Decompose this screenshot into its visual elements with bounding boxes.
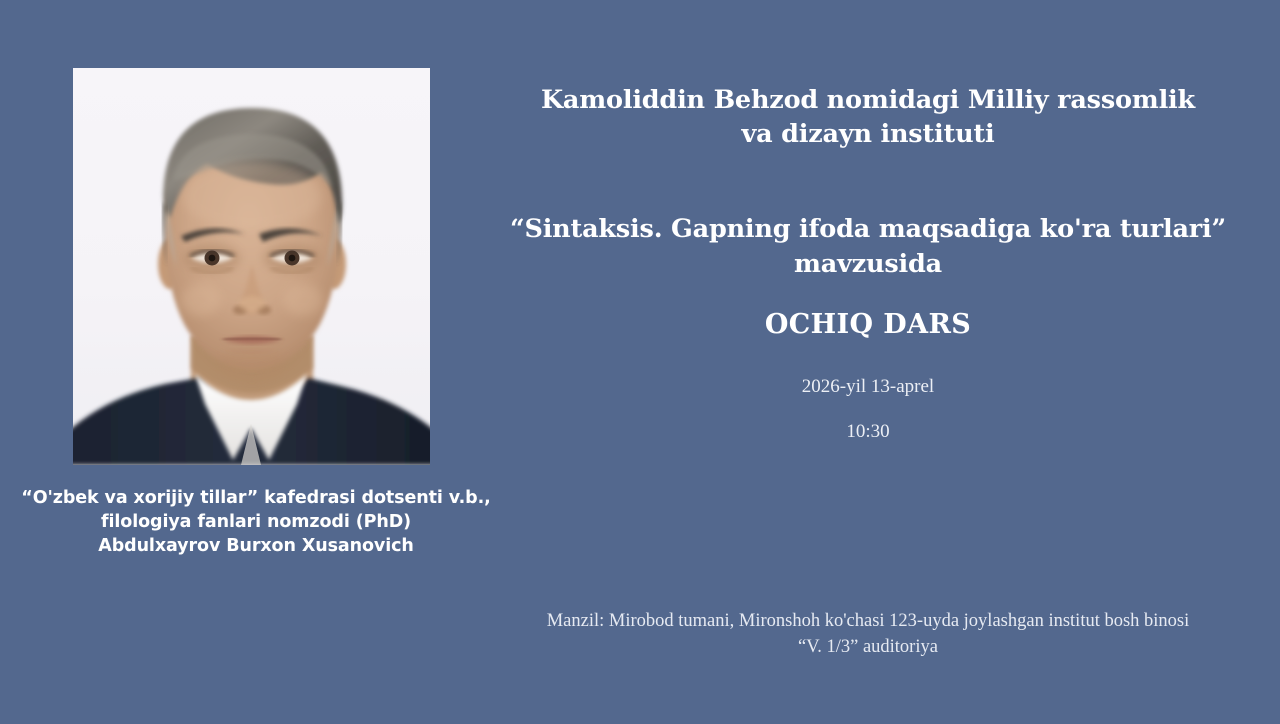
event-type-label: OCHIQ DARS: [468, 308, 1268, 342]
venue-address-line-2: “V. 1/3” auditoriya: [458, 634, 1278, 660]
institute-name: Kamoliddin Behzod nomidagi Milliy rassom…: [468, 83, 1268, 151]
portrait-illustration: [73, 68, 430, 465]
venue-address: Manzil: Mirobod tumani, Mironshoh ko'cha…: [458, 608, 1278, 660]
speaker-photo: [73, 68, 430, 465]
lesson-topic: “Sintaksis. Gapning ifoda maqsadiga ko'r…: [462, 212, 1274, 282]
speaker-caption-line-3: Abdulxayrov Burxon Xusanovich: [6, 534, 506, 558]
lesson-topic-line-1: “Sintaksis. Gapning ifoda maqsadiga ko'r…: [462, 212, 1274, 247]
speaker-caption: “O'zbek va xorijiy tillar” kafedrasi dot…: [6, 486, 506, 558]
announcement-poster: “O'zbek va xorijiy tillar” kafedrasi dot…: [0, 0, 1280, 724]
event-time: 10:30: [468, 420, 1268, 444]
institute-name-line-1: Kamoliddin Behzod nomidagi Milliy rassom…: [468, 83, 1268, 117]
venue-address-line-1: Manzil: Mirobod tumani, Mironshoh ko'cha…: [458, 608, 1278, 634]
speaker-caption-line-1: “O'zbek va xorijiy tillar” kafedrasi dot…: [6, 486, 506, 510]
speaker-caption-line-2: filologiya fanlari nomzodi (PhD): [6, 510, 506, 534]
speaker-block: “O'zbek va xorijiy tillar” kafedrasi dot…: [0, 0, 512, 724]
event-date: 2026-yil 13-aprel: [468, 375, 1268, 399]
institute-name-line-2: va dizayn instituti: [468, 117, 1268, 151]
event-text-block: Kamoliddin Behzod nomidagi Milliy rassom…: [468, 0, 1268, 724]
lesson-topic-line-2: mavzusida: [462, 247, 1274, 282]
